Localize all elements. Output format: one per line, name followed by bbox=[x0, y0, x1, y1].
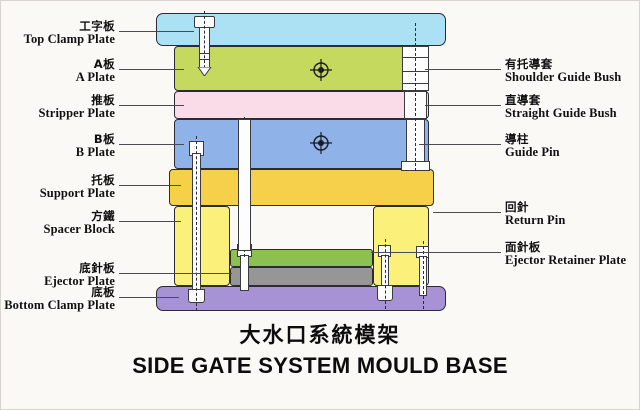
label-a-plate-en: A Plate bbox=[76, 71, 115, 84]
diagram-title: 大水口系統模架 SIDE GATE SYSTEM MOULD BASE bbox=[1, 319, 639, 379]
leader-line-support-plate bbox=[119, 185, 181, 186]
label-spacer-block-en: Spacer Block bbox=[44, 223, 115, 236]
crosshair-symbol-a-plate bbox=[310, 59, 332, 81]
label-spacer-block: 方鐵 Spacer Block bbox=[44, 211, 115, 236]
plate-stripper-plate bbox=[174, 91, 429, 119]
label-shoulder-guide-bush-en: Shoulder Guide Bush bbox=[505, 71, 621, 84]
crosshair-symbol-b-plate bbox=[310, 132, 332, 154]
label-straight-guide-bush-en: Straight Guide Bush bbox=[505, 107, 617, 120]
label-straight-guide-bush: 直導套 Straight Guide Bush bbox=[505, 95, 617, 120]
label-stripper-plate-en: Stripper Plate bbox=[38, 107, 115, 120]
plate-ejector-plate bbox=[230, 267, 373, 286]
label-ejector-retainer-plate: 面針板 Ejector Retainer Plate bbox=[505, 242, 626, 267]
plate-spacer-block-left bbox=[174, 206, 230, 286]
label-b-plate-en: B Plate bbox=[76, 146, 115, 159]
leader-line-guide-pin bbox=[419, 144, 501, 145]
return-pin-centerline bbox=[196, 136, 197, 311]
label-stripper-plate: 推板 Stripper Plate bbox=[38, 95, 115, 120]
diagram-title-cn: 大水口系統模架 bbox=[1, 319, 639, 349]
label-b-plate: B板 B Plate bbox=[76, 134, 115, 159]
leader-line-top-clamp-plate bbox=[119, 31, 194, 32]
plate-support-plate bbox=[169, 169, 434, 206]
label-a-plate: A板 A Plate bbox=[76, 59, 115, 84]
plate-a-plate bbox=[174, 46, 429, 91]
ejector-bolt-shaft bbox=[240, 255, 249, 291]
label-top-clamp-plate-en: Top Clamp Plate bbox=[24, 33, 115, 46]
label-ejector-retainer-plate-en: Ejector Retainer Plate bbox=[505, 254, 626, 267]
leader-line-shoulder-guide-bush bbox=[425, 69, 501, 70]
leader-line-a-plate bbox=[119, 69, 184, 70]
leader-line-ejector-retainer-plate bbox=[371, 252, 501, 253]
label-bottom-clamp-plate: 底板 Bottom Clamp Plate bbox=[4, 287, 115, 312]
cap-screw-point bbox=[197, 67, 212, 76]
diagram-title-en: SIDE GATE SYSTEM MOULD BASE bbox=[1, 353, 639, 379]
plate-b-plate bbox=[174, 119, 429, 169]
label-bottom-clamp-plate-en: Bottom Clamp Plate bbox=[4, 299, 115, 312]
leader-line-ejector-plate bbox=[119, 273, 232, 274]
label-top-clamp-plate: 工字板 Top Clamp Plate bbox=[24, 21, 115, 46]
leader-line-straight-guide-bush bbox=[425, 105, 501, 106]
diagram-canvas: 工字板 Top Clamp Plate A板 A Plate 推板 Stripp… bbox=[0, 0, 640, 410]
leader-line-return-pin bbox=[433, 212, 501, 213]
leader-line-b-plate bbox=[119, 144, 184, 145]
guide-pin-centerline bbox=[415, 23, 416, 171]
label-guide-pin: 導柱 Guide Pin bbox=[505, 134, 560, 159]
cap-screw-centerline bbox=[204, 11, 205, 73]
return-pin-right-centerline bbox=[385, 239, 386, 309]
ejector-sleeve bbox=[238, 119, 251, 251]
leader-line-bottom-clamp-plate bbox=[119, 297, 179, 298]
label-return-pin: 回針 Return Pin bbox=[505, 202, 565, 227]
leader-line-stripper-plate bbox=[119, 105, 184, 106]
label-support-plate-en: Support Plate bbox=[40, 187, 115, 200]
label-guide-pin-en: Guide Pin bbox=[505, 146, 560, 159]
leader-line-spacer-block bbox=[119, 221, 181, 222]
label-shoulder-guide-bush: 有托導套 Shoulder Guide Bush bbox=[505, 59, 621, 84]
label-support-plate: 托板 Support Plate bbox=[40, 175, 115, 200]
label-return-pin-en: Return Pin bbox=[505, 214, 565, 227]
